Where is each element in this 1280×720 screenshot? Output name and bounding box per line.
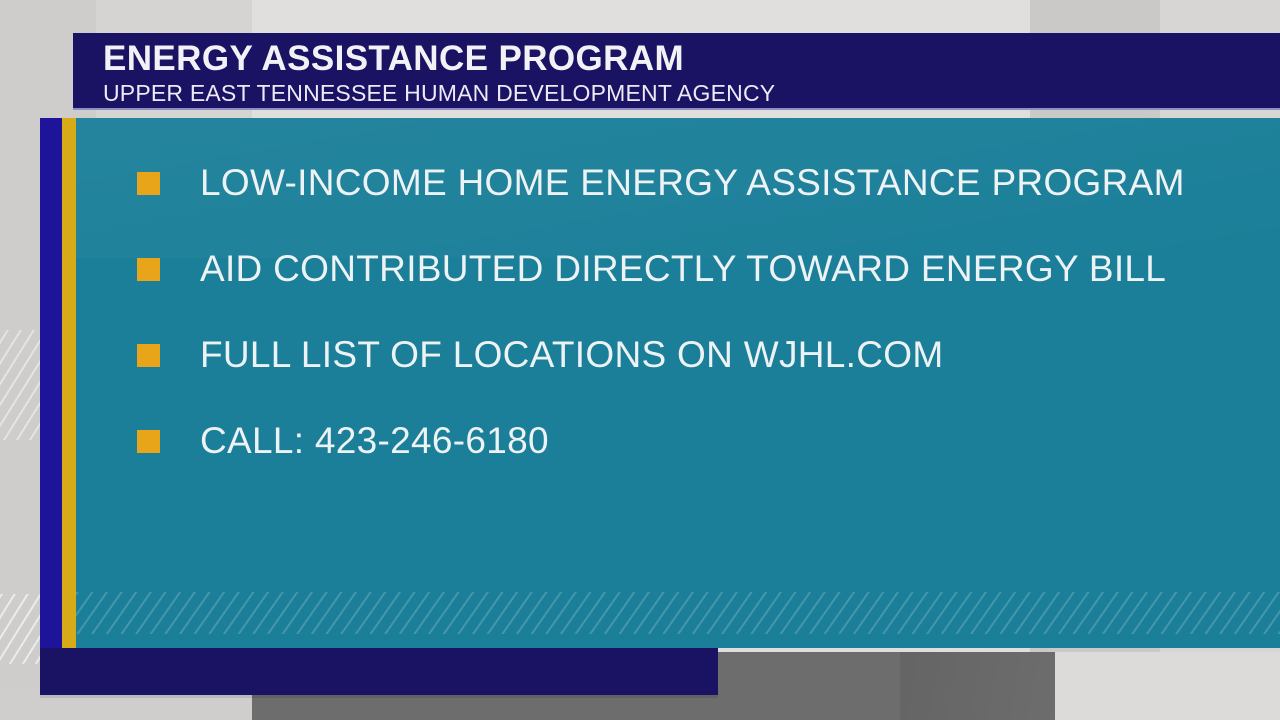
bottom-navy-bar [40, 648, 718, 695]
page-title: ENERGY ASSISTANCE PROGRAM [103, 39, 1280, 79]
broadcast-lower-third-graphic: ENERGY ASSISTANCE PROGRAM UPPER EAST TEN… [0, 0, 1280, 720]
foreground-desk-shadow [900, 652, 1060, 720]
square-bullet-icon [137, 172, 160, 195]
foreground-right-block [1055, 652, 1280, 720]
list-item: CALL: 423-246-6180 [137, 416, 1240, 466]
content-panel: LOW-INCOME HOME ENERGY ASSISTANCE PROGRA… [76, 118, 1280, 648]
list-item: LOW-INCOME HOME ENERGY ASSISTANCE PROGRA… [137, 158, 1240, 208]
bullet-list: LOW-INCOME HOME ENERGY ASSISTANCE PROGRA… [137, 158, 1240, 466]
list-item-label: LOW-INCOME HOME ENERGY ASSISTANCE PROGRA… [200, 158, 1185, 208]
square-bullet-icon [137, 344, 160, 367]
list-item: FULL LIST OF LOCATIONS ON WJHL.COM [137, 330, 1240, 380]
list-item-label: FULL LIST OF LOCATIONS ON WJHL.COM [200, 330, 943, 380]
accent-bar-gold [62, 118, 76, 648]
list-item: AID CONTRIBUTED DIRECTLY TOWARD ENERGY B… [137, 244, 1240, 294]
panel-hatch-texture [76, 592, 1280, 634]
accent-bar-blue [40, 118, 62, 648]
bottom-navy-bar-shadow [40, 695, 718, 698]
list-item-label: CALL: 423-246-6180 [200, 416, 549, 466]
square-bullet-icon [137, 430, 160, 453]
title-bar: ENERGY ASSISTANCE PROGRAM UPPER EAST TEN… [73, 33, 1280, 110]
page-subtitle: UPPER EAST TENNESSEE HUMAN DEVELOPMENT A… [103, 79, 1280, 107]
list-item-label: AID CONTRIBUTED DIRECTLY TOWARD ENERGY B… [200, 244, 1166, 294]
square-bullet-icon [137, 258, 160, 281]
